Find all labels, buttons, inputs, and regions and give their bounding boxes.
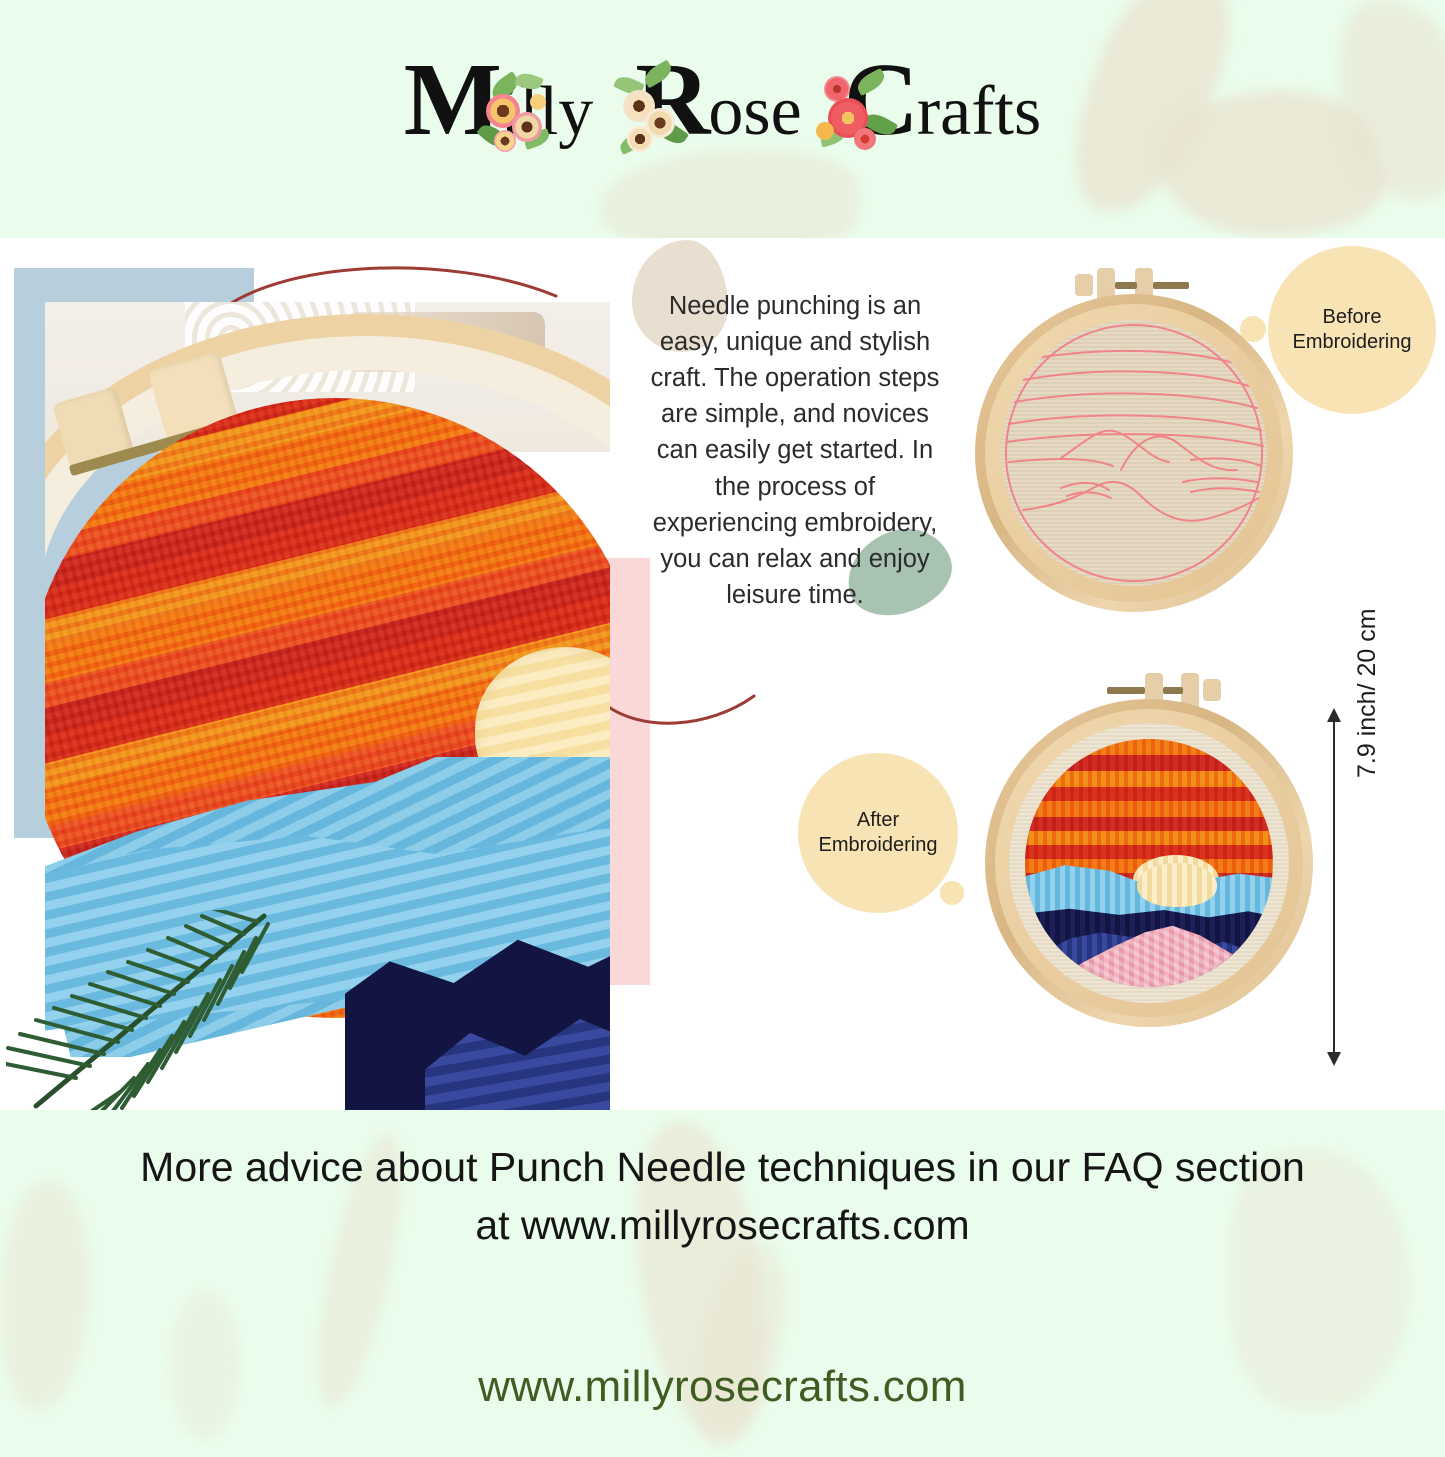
badge-before-dot xyxy=(1240,316,1266,342)
tagline-line-1: More advice about Punch Needle technique… xyxy=(0,1138,1445,1196)
hoop-after-embroidering xyxy=(985,673,1315,1073)
logo-word-rose: Rose xyxy=(635,40,801,159)
dimension-arrow-up-icon xyxy=(1327,708,1341,722)
logo-rest-ose: ose xyxy=(708,73,801,150)
dimension-arrow-down-icon xyxy=(1327,1052,1341,1066)
badge-after-label: After Embroidering xyxy=(798,808,958,858)
palm-leaf-decoration xyxy=(6,910,276,1110)
logo-capital-c: C xyxy=(844,42,917,157)
dimension-label: 7.9 inch/ 20 cm xyxy=(1353,558,1382,778)
site-url-link[interactable]: www.millyrosecrafts.com xyxy=(0,1362,1445,1412)
logo-capital-r: R xyxy=(635,42,708,157)
url-band: www.millyrosecrafts.com xyxy=(0,1340,1445,1445)
logo-rest-illy: illy xyxy=(500,73,593,150)
logo-word-milly: Milly xyxy=(404,40,594,159)
badge-after-dot xyxy=(940,881,964,905)
tagline-line-2: at www.millyrosecrafts.com xyxy=(0,1196,1445,1254)
tagline-text: More advice about Punch Needle technique… xyxy=(0,1138,1445,1254)
hoop-after-artwork xyxy=(1025,739,1273,987)
logo-rest-rafts: rafts xyxy=(917,73,1041,150)
brand-logo[interactable]: Milly Rose xyxy=(0,40,1445,159)
dimension-indicator: 7.9 inch/ 20 cm xyxy=(1315,708,1425,1068)
logo-capital-m: M xyxy=(404,42,500,157)
badge-before-label: Before Embroidering xyxy=(1268,305,1436,355)
description-text: Needle punching is an easy, unique and s… xyxy=(640,288,950,614)
content-panel: Needle punching is an easy, unique and s… xyxy=(0,238,1445,1110)
page-header: Milly Rose xyxy=(0,0,1445,238)
tagline-band: More advice about Punch Needle technique… xyxy=(0,1110,1445,1340)
dimension-line xyxy=(1333,714,1335,1062)
badge-before-embroidering: Before Embroidering xyxy=(1268,246,1436,414)
logo-word-crafts: Crafts xyxy=(844,40,1042,159)
hoop-before-fabric xyxy=(1001,320,1267,586)
badge-after-embroidering: After Embroidering xyxy=(798,753,958,913)
